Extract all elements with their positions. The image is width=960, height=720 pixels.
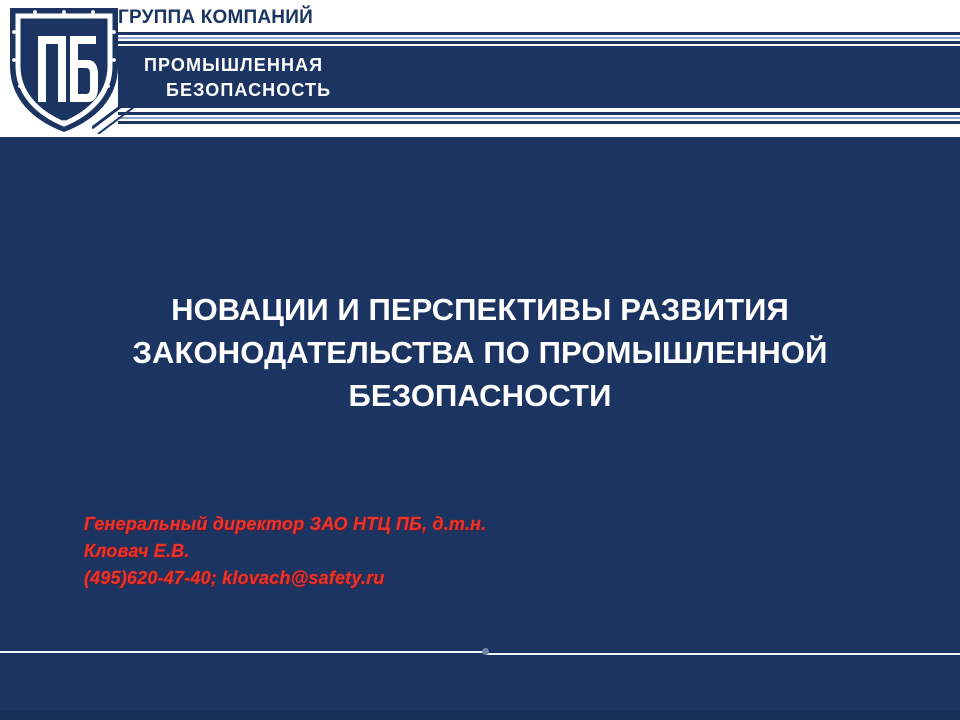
divider-handle[interactable] [482, 648, 489, 655]
presentation-slide: ГРУППА КОМПАНИЙ ПРОМЫШЛЕННАЯ БЕЗОПАСНОСТ… [0, 0, 960, 720]
header-rule-bottom-2 [118, 117, 960, 119]
author-contact-block: Генеральный директор ЗАО НТЦ ПБ, д.т.н. … [84, 511, 486, 592]
diagonal-accent-icon [92, 88, 182, 134]
slide-header: ГРУППА КОМПАНИЙ ПРОМЫШЛЕННАЯ БЕЗОПАСНОСТ… [0, 0, 960, 137]
slide-body [0, 137, 960, 720]
slide-title: НОВАЦИИ И ПЕРСПЕКТИВЫ РАЗВИТИЯ ЗАКОНОДАТ… [60, 288, 900, 417]
company-group-title: ГРУППА КОМПАНИЙ [118, 7, 313, 29]
author-contacts: (495)620-47-40; klovach@safety.ru [84, 565, 486, 592]
divider-line-left [0, 651, 486, 653]
product-banner-line-2: БЕЗОПАСНОСТЬ [166, 80, 331, 101]
header-rule-top-3 [118, 41, 960, 44]
title-line-1: НОВАЦИИ И ПЕРСПЕКТИВЫ РАЗВИТИЯ [60, 288, 900, 331]
header-rule-top-1 [118, 32, 960, 35]
author-position: Генеральный директор ЗАО НТЦ ПБ, д.т.н. [84, 511, 486, 538]
title-line-3: БЕЗОПАСНОСТИ [60, 374, 900, 417]
header-rule-bottom-1 [118, 112, 960, 115]
title-line-2: ЗАКОНОДАТЕЛЬСТВА ПО ПРОМЫШЛЕННОЙ [60, 331, 900, 374]
header-rule-top-2 [118, 37, 960, 39]
product-banner-line-1: ПРОМЫШЛЕННАЯ [144, 55, 323, 76]
header-rule-bottom-3 [118, 121, 960, 124]
bottom-band [0, 711, 960, 720]
divider-line-right [486, 653, 960, 655]
product-banner: ПРОМЫШЛЕННАЯ БЕЗОПАСНОСТЬ [118, 46, 960, 108]
author-name: Кловач Е.В. [84, 538, 486, 565]
